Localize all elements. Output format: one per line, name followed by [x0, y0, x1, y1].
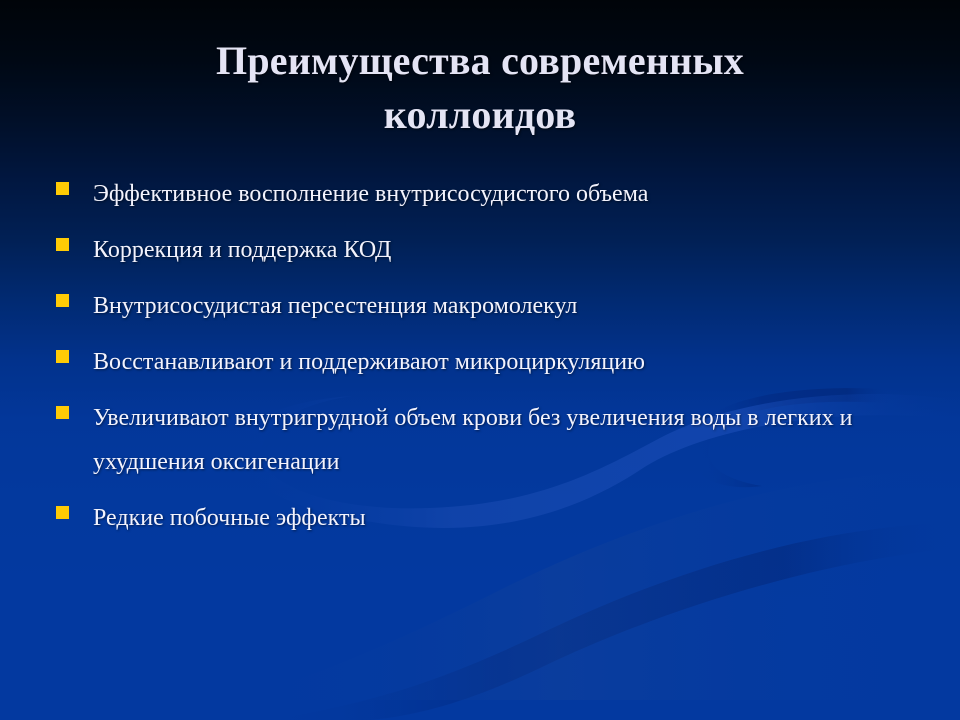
square-bullet-icon — [56, 182, 69, 195]
bullet-list: Эффективное восполнение внутрисосудистог… — [56, 172, 926, 552]
list-item-text: Редкие побочные эффекты — [93, 496, 893, 540]
square-bullet-icon — [56, 350, 69, 363]
square-bullet-icon — [56, 294, 69, 307]
square-bullet-icon — [56, 506, 69, 519]
list-item: Восстанавливают и поддерживают микроцирк… — [56, 340, 926, 384]
square-bullet-icon — [56, 406, 69, 419]
list-item: Редкие побочные эффекты — [56, 496, 926, 540]
list-item: Увеличивают внутригрудной объем крови бе… — [56, 396, 926, 484]
list-item: Внутрисосудистая персестенция макромолек… — [56, 284, 926, 328]
list-item-text: Увеличивают внутригрудной объем крови бе… — [93, 396, 893, 484]
list-item-text: Восстанавливают и поддерживают микроцирк… — [93, 340, 893, 384]
square-bullet-icon — [56, 238, 69, 251]
list-item: Коррекция и поддержка КОД — [56, 228, 926, 272]
list-item: Эффективное восполнение внутрисосудистог… — [56, 172, 926, 216]
list-item-text: Коррекция и поддержка КОД — [93, 228, 893, 272]
title-line-1: Преимущества современных — [60, 34, 900, 88]
title-line-2: коллоидов — [60, 88, 900, 142]
list-item-text: Эффективное восполнение внутрисосудистог… — [93, 172, 893, 216]
presentation-slide: Преимущества современных коллоидов Эффек… — [0, 0, 960, 720]
list-item-text: Внутрисосудистая персестенция макромолек… — [93, 284, 893, 328]
slide-title: Преимущества современных коллоидов — [60, 34, 900, 142]
